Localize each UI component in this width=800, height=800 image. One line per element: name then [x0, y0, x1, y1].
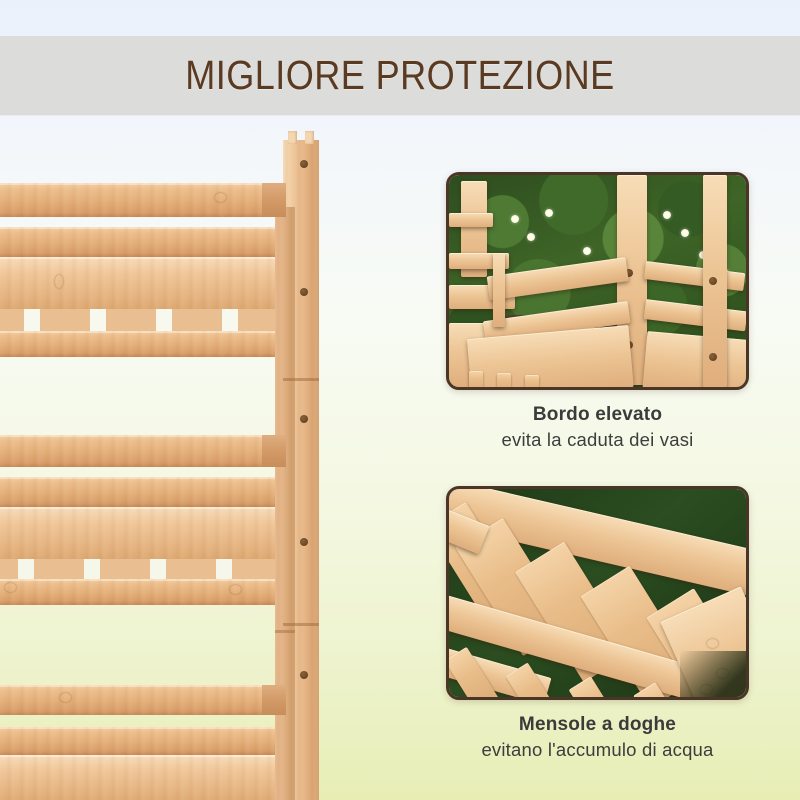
- feature-title: Mensole a doghe: [446, 712, 749, 737]
- screw-head: [300, 288, 308, 296]
- screw-head: [300, 538, 308, 546]
- wood-knot: [215, 193, 226, 202]
- planter-rail-left-upper: [449, 213, 493, 227]
- screw-head: [709, 353, 717, 361]
- hero-product-photo: [0, 115, 420, 800]
- feature-photo-bordo-elevato: [446, 172, 749, 390]
- header-banner: MIGLIORE PROTEZIONE: [0, 36, 800, 115]
- wood-knot: [5, 583, 16, 592]
- bottom-slat: [469, 371, 483, 390]
- shadow-corner: [680, 651, 749, 700]
- post-joint-seam: [283, 378, 319, 381]
- shelf-slat-gaps-top: [0, 309, 310, 331]
- screw-head: [300, 160, 308, 168]
- rail-bracket: [262, 435, 286, 467]
- flower: [545, 209, 553, 217]
- flower: [511, 215, 519, 223]
- feature-subtitle: evita la caduta dei vasi: [446, 427, 749, 453]
- panel-photo-bottom: [449, 489, 746, 697]
- shelf-rail-bottom-second: [0, 727, 310, 755]
- planter-vertical-strut: [493, 253, 505, 327]
- planter-panel-right: [642, 331, 749, 390]
- feature-caption-bordo-elevato: Bordo elevato evita la caduta dei vasi: [446, 402, 749, 453]
- screw-head: [300, 671, 308, 679]
- feature-subtitle: evitano l'accumulo di acqua: [446, 737, 749, 763]
- post-notch: [305, 131, 314, 144]
- flower: [527, 233, 535, 241]
- shelf-front-lip-top: [0, 331, 310, 357]
- feature-caption-mensole-a-doghe: Mensole a doghe evitano l'accumulo di ac…: [446, 712, 749, 763]
- panel-photo-top: [449, 175, 746, 387]
- post-notch: [288, 131, 297, 144]
- flower: [681, 229, 689, 237]
- wood-knot: [230, 585, 241, 594]
- shelf-surface-bottom: [0, 755, 310, 800]
- wood-knot: [60, 693, 71, 702]
- shelf-surface-top: [0, 257, 310, 309]
- screw-head: [300, 415, 308, 423]
- post-joint-seam: [275, 630, 295, 633]
- wood-knot: [707, 639, 718, 648]
- feature-title: Bordo elevato: [446, 402, 749, 427]
- shelf-surface-mid: [0, 507, 310, 559]
- rail-bracket: [262, 183, 286, 217]
- bottom-slat: [525, 375, 539, 390]
- shelf-rail-mid-second: [0, 477, 310, 507]
- shelf-slat-gaps-mid: [0, 559, 310, 579]
- bottom-slat: [497, 373, 511, 390]
- page-title: MIGLIORE PROTEZIONE: [185, 52, 614, 99]
- wood-knot: [55, 275, 63, 288]
- flower: [583, 247, 591, 255]
- screw-head: [709, 277, 717, 285]
- feature-photo-mensole-a-doghe: [446, 486, 749, 700]
- rail-bracket: [262, 685, 286, 715]
- post-joint-seam: [283, 623, 319, 626]
- shelf-front-lip-mid: [0, 579, 310, 605]
- shelf-rail-top-mid: [0, 227, 310, 257]
- flower: [663, 211, 671, 219]
